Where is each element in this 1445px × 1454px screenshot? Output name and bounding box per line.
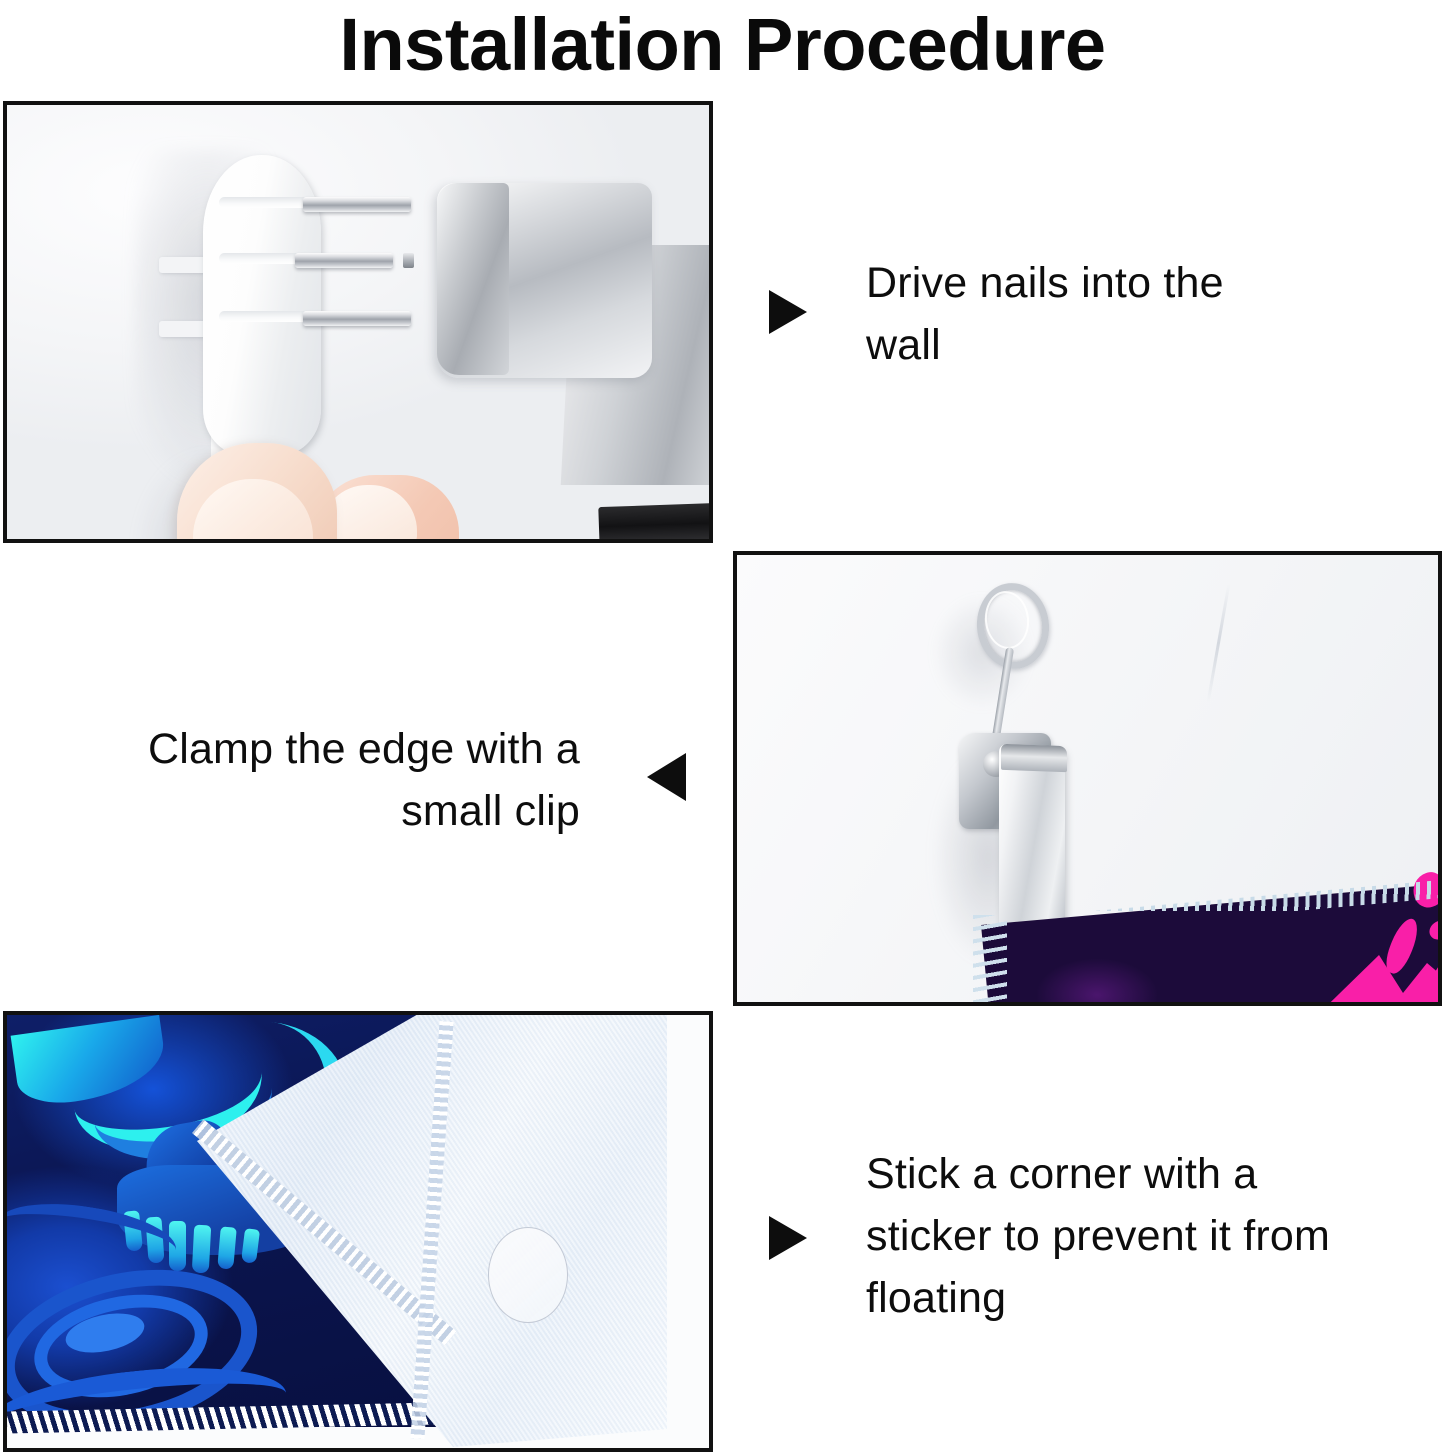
- step-2-caption: Clamp the edge with a small clip: [70, 718, 580, 842]
- skull-tooth: [192, 1225, 211, 1274]
- adhesive-sticker: [488, 1227, 568, 1323]
- arrow-left-icon: [647, 753, 686, 801]
- arrow-right-icon: [769, 290, 807, 334]
- photo-3-scene: [7, 1015, 709, 1448]
- nail-1: [303, 197, 411, 212]
- hammer-striking-face: [437, 183, 509, 375]
- clip-jaw-lip: [1001, 744, 1067, 772]
- sticker-corner-photo: [3, 1011, 713, 1452]
- hammer-ferrule-band: [598, 503, 709, 539]
- page-title: Installation Procedure: [0, 2, 1445, 88]
- nails-hammer-photo: [3, 101, 713, 543]
- tapestry-purple-glow: [1037, 959, 1157, 1002]
- photo-1-scene: [7, 105, 709, 539]
- skull-tooth: [217, 1226, 237, 1269]
- nail-2: [295, 253, 393, 268]
- tapestry-left-hem-stitching: [973, 915, 1007, 1002]
- clip-jaw: [999, 744, 1065, 946]
- nail-2-tip: [403, 253, 414, 268]
- step-1-caption: Drive nails into the wall: [866, 252, 1286, 376]
- step-3-caption: Stick a corner with a sticker to prevent…: [866, 1143, 1336, 1329]
- clip-corner-photo: [733, 551, 1442, 1006]
- arrow-right-icon: [769, 1216, 807, 1260]
- skull-tooth: [241, 1228, 260, 1264]
- nail-3: [303, 311, 411, 326]
- photo-2-scene: [737, 555, 1438, 1002]
